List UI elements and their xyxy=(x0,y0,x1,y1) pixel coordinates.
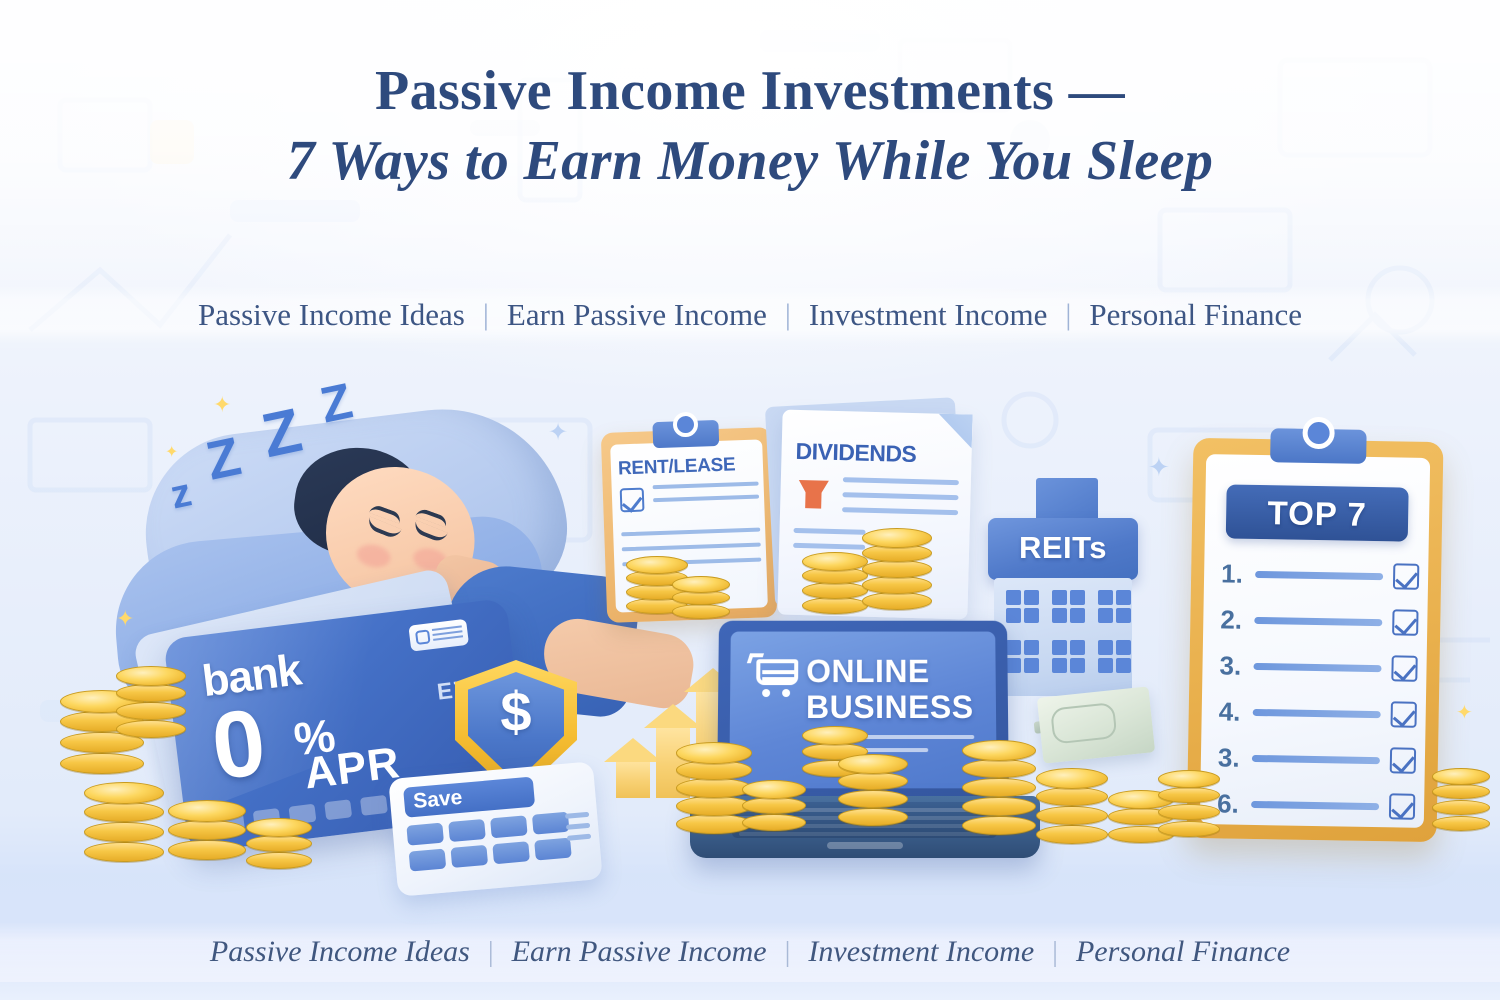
list-item: 3. xyxy=(1219,642,1418,691)
sparkle-icon: ✦ xyxy=(213,392,231,418)
list-item: 3. xyxy=(1218,734,1417,783)
list-item-number: 1. xyxy=(1221,558,1256,590)
list-item-line xyxy=(1253,708,1381,717)
list-item-number: 2. xyxy=(1220,604,1255,636)
sparkle-icon: ✦ xyxy=(165,442,178,462)
dollar-symbol: $ xyxy=(455,684,577,740)
keyword-bar-top: Passive Income Ideas | Earn Passive Inco… xyxy=(0,286,1500,344)
list-item-line xyxy=(1252,754,1380,763)
keyword-bar-bottom: Passive Income Ideas | Earn Passive Inco… xyxy=(0,922,1500,982)
keyword-item: Passive Income Ideas xyxy=(180,297,483,333)
page-title-line1: Passive Income Investments — xyxy=(0,60,1500,123)
page-title-line2: 7 Ways to Earn Money While You Sleep xyxy=(0,127,1500,195)
keyword-item: Passive Income Ideas xyxy=(192,935,488,969)
list-item-number: 6. xyxy=(1217,788,1252,820)
keyword-item: Earn Passive Income xyxy=(494,935,785,969)
top7-list: 1. 2. 3. 4. 3. xyxy=(1217,550,1420,829)
checkbox-checked-icon xyxy=(1391,655,1417,681)
list-item-line xyxy=(1255,570,1383,579)
keyword-item: Investment Income xyxy=(791,297,1065,333)
keyword-item: Personal Finance xyxy=(1071,297,1320,333)
banknote xyxy=(1037,686,1155,763)
sparkle-icon: ✦ xyxy=(1456,700,1473,725)
list-item-line xyxy=(1254,616,1382,625)
page-fold-corner xyxy=(938,414,973,449)
laptop-trackpad xyxy=(827,842,903,849)
checkbox-checked-icon xyxy=(1392,609,1418,635)
list-item: 4. xyxy=(1218,688,1417,737)
illustration-canvas: z Z Z Z ✦ ✦ RENT/LEASE DIVIDENDS xyxy=(0,0,1500,1000)
clipboard-clip-icon xyxy=(1270,428,1367,464)
calculator-keys xyxy=(406,812,571,872)
list-item-number: 3. xyxy=(1218,742,1253,774)
list-item-number: 3. xyxy=(1219,650,1254,682)
header: Passive Income Investments — 7 Ways to E… xyxy=(0,60,1500,195)
rent-lease-label: RENT/LEASE xyxy=(618,454,736,480)
reits-label: REITs xyxy=(988,530,1138,566)
sparkle-icon: ✦ xyxy=(548,418,568,447)
shopping-cart-icon xyxy=(748,653,800,697)
checkbox-checked-icon xyxy=(1390,747,1416,773)
online-label: ONLINE xyxy=(806,653,930,690)
keyword-item: Personal Finance xyxy=(1058,935,1308,969)
clipboard-clip-icon xyxy=(652,420,719,448)
reits-sign: REITs xyxy=(988,518,1138,580)
business-label: BUSINESS xyxy=(806,689,974,726)
apr-label: APR xyxy=(302,738,403,799)
keyword-item: Investment Income xyxy=(790,935,1052,969)
list-item-line xyxy=(1253,662,1381,671)
checkbox-checked-icon xyxy=(1389,793,1415,819)
checkbox-checked-icon xyxy=(1393,563,1419,589)
sparkle-icon: ✦ xyxy=(1148,452,1170,483)
document-lines xyxy=(842,477,959,525)
top7-banner: TOP 7 xyxy=(1226,484,1409,541)
list-item: 6. xyxy=(1217,780,1416,829)
checkbox-checked-icon xyxy=(1390,701,1416,727)
down-arrow-icon xyxy=(798,480,829,507)
apr-rate-number: 0 xyxy=(207,697,270,792)
list-item: 2. xyxy=(1220,596,1419,645)
list-item-number: 4. xyxy=(1218,696,1253,728)
calculator-side-keys xyxy=(565,812,592,847)
checkbox-checked-icon xyxy=(620,488,645,513)
keyword-item: Earn Passive Income xyxy=(489,297,785,333)
top7-clipboard: TOP 7 1. 2. 3. 4. xyxy=(1187,438,1444,842)
sparkle-icon: ✦ xyxy=(116,606,134,632)
calculator: Save xyxy=(388,761,603,896)
list-item: 1. xyxy=(1221,550,1420,599)
dividends-label: DIVIDENDS xyxy=(795,438,916,468)
top7-label: TOP 7 xyxy=(1226,493,1409,534)
list-item-line xyxy=(1251,800,1379,809)
document-lines xyxy=(653,482,760,512)
cheek-left xyxy=(355,542,393,571)
calculator-screen-label: Save xyxy=(403,777,535,818)
